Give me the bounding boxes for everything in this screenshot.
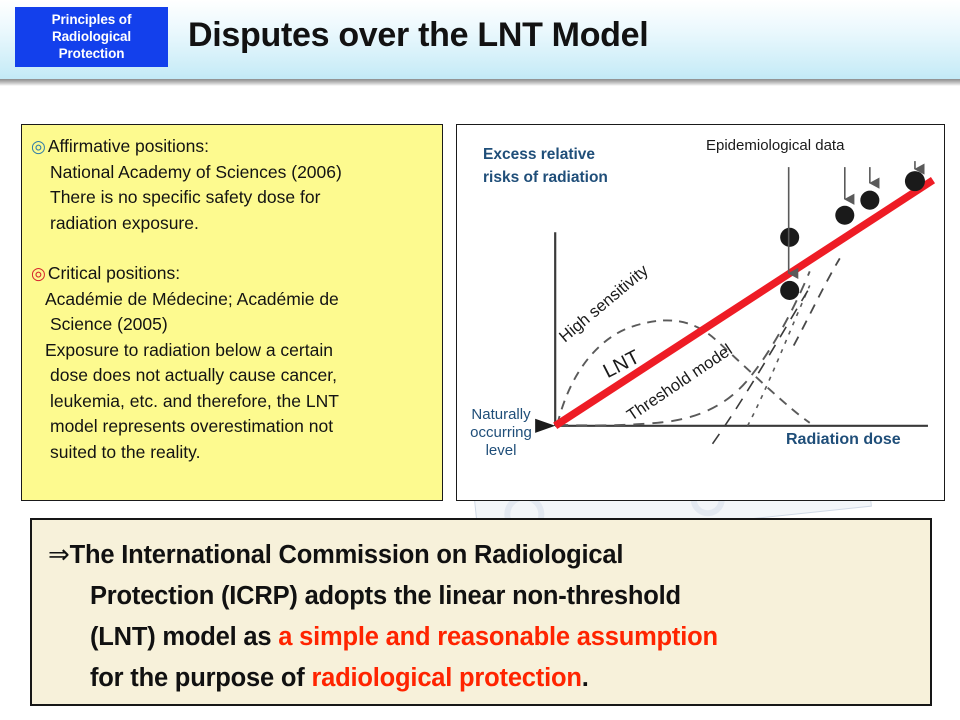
- conclusion-line-2: Protection (ICRP) adopts the linear non-…: [48, 576, 914, 617]
- data-point: [905, 171, 925, 191]
- critical-heading: Critical positions:: [48, 261, 180, 287]
- conclusion-line-3: (LNT) model as a simple and reasonable a…: [48, 617, 914, 658]
- section-badge-line-1: Principles of: [15, 11, 168, 28]
- affirmative-line-1: National Academy of Sciences (2006): [31, 160, 434, 186]
- conclusion-line-4: for the purpose of radiological protecti…: [48, 658, 914, 699]
- page-title: Disputes over the LNT Model: [188, 16, 648, 55]
- conclusion-line-4-text: for the purpose of: [90, 664, 311, 692]
- critical-line-3: Exposure to radiation below a certain: [31, 338, 434, 364]
- data-point: [780, 228, 799, 247]
- slide: Principles of Radiological Protection Di…: [0, 0, 960, 720]
- section-badge-line-3: Protection: [15, 45, 168, 62]
- header-shadow-divider: [0, 79, 960, 86]
- data-point: [835, 206, 854, 225]
- critical-line-2: Science (2005): [31, 312, 434, 338]
- affirmative-positions-block: ◎ Affirmative positions: National Academ…: [31, 134, 434, 236]
- critical-line-5: leukemia, etc. and therefore, the LNT: [31, 389, 434, 415]
- upper-dashed-segment: [794, 258, 840, 345]
- affirmative-line-2: There is no specific safety dose for: [31, 185, 434, 211]
- affirmative-heading: Affirmative positions:: [48, 134, 209, 160]
- critical-positions-block: ◎ Critical positions: Académie de Médeci…: [31, 261, 434, 465]
- conclusion-highlight-1: a simple and reasonable assumption: [278, 623, 718, 651]
- section-badge: Principles of Radiological Protection: [15, 7, 168, 67]
- y-axis-label-line-2: risks of radiation: [483, 166, 608, 189]
- section-badge-line-2: Radiological: [15, 28, 168, 45]
- data-point: [860, 191, 879, 210]
- critical-line-7: suited to the reality.: [31, 440, 434, 466]
- conclusion-line-3-text: (LNT) model as: [90, 623, 278, 651]
- conclusion-box: ⇒The International Commission on Radiolo…: [30, 518, 932, 706]
- conclusion-period: .: [582, 664, 589, 692]
- critical-line-1: Académie de Médecine; Académie de: [31, 287, 434, 313]
- panel-spacer: [31, 236, 434, 261]
- epidemiological-data-label: Epidemiological data: [706, 137, 844, 154]
- affirmative-bullet-icon: ◎: [31, 134, 46, 160]
- conclusion-highlight-2: radiological protection: [311, 664, 581, 692]
- lnt-model-chart: Excess relative risks of radiation Epide…: [456, 124, 945, 501]
- data-point: [780, 281, 799, 300]
- naturally-occurring-level-label: Naturally occurring level: [459, 406, 543, 460]
- positions-panel: ◎ Affirmative positions: National Academ…: [21, 124, 443, 501]
- natural-line-3: level: [459, 442, 543, 460]
- affirmative-heading-row: ◎ Affirmative positions:: [31, 134, 434, 160]
- critical-heading-row: ◎ Critical positions:: [31, 261, 434, 287]
- y-axis-label-line-1: Excess relative: [483, 143, 608, 166]
- conclusion-line-1-text: The International Commission on Radiolog…: [70, 541, 624, 569]
- conclusion-line-1: ⇒The International Commission on Radiolo…: [48, 534, 914, 576]
- natural-line-2: occurring: [459, 424, 543, 442]
- critical-line-6: model represents overestimation not: [31, 414, 434, 440]
- critical-line-4: dose does not actually cause cancer,: [31, 363, 434, 389]
- affirmative-line-3: radiation exposure.: [31, 211, 434, 237]
- critical-bullet-icon: ◎: [31, 261, 46, 287]
- y-axis-label: Excess relative risks of radiation: [483, 143, 608, 189]
- implies-arrow-icon: ⇒: [48, 539, 70, 569]
- steep-threshold-segment: [748, 285, 810, 425]
- x-axis-label: Radiation dose: [786, 431, 901, 449]
- natural-line-1: Naturally: [459, 406, 543, 424]
